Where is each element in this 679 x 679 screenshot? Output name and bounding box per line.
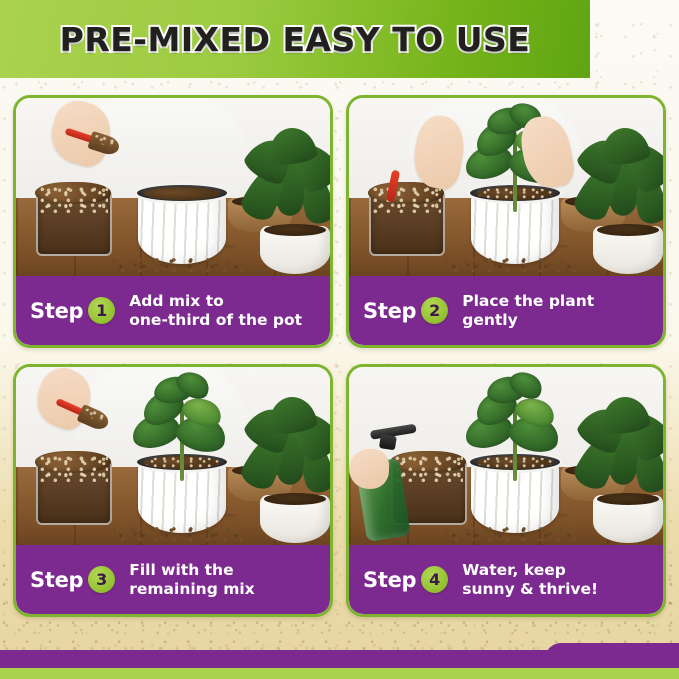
product-infographic: PRE-MIXED EASY TO USE (0, 0, 679, 679)
step-photo-3 (16, 367, 330, 545)
spray-bottle (355, 423, 429, 539)
step-number-badge: 2 (421, 297, 448, 324)
step-label: Step (363, 568, 416, 592)
pot-soil (144, 187, 220, 200)
fiddle-leaf-fig-plant (461, 369, 569, 481)
step-photo-4 (349, 367, 663, 545)
hand (349, 449, 389, 489)
scattered-soil (112, 525, 242, 541)
page-title: PRE-MIXED EASY TO USE (0, 0, 590, 78)
steps-row-top: Step 1 Add mix to one-third of the pot (13, 95, 666, 348)
step-description-line2: remaining mix (129, 580, 254, 598)
step-description: Water, keep sunny & thrive! (462, 561, 598, 598)
step-description-line2: sunny & thrive! (462, 580, 598, 598)
step-photo-1 (16, 98, 330, 276)
step-description: Add mix to one-third of the pot (129, 292, 302, 329)
step-label: Step (363, 299, 416, 323)
soil-mix-container (36, 459, 112, 525)
step-label: Step (30, 299, 83, 323)
scattered-soil (112, 256, 242, 272)
step-card-3[interactable]: Step 3 Fill with the remaining mix (13, 364, 333, 617)
step-card-4[interactable]: Step 4 Water, keep sunny & thrive! (346, 364, 666, 617)
step-description: Fill with the remaining mix (129, 561, 254, 598)
step-description-line1: Water, keep (462, 561, 566, 579)
scattered-soil (445, 525, 575, 541)
step-number-badge: 3 (88, 566, 115, 593)
soil-mix-container (36, 190, 112, 256)
step-caption-3: Step 3 Fill with the remaining mix (16, 545, 330, 614)
step-caption-2: Step 2 Place the plant gently (349, 276, 663, 345)
step-photo-2 (349, 98, 663, 276)
step-description: Place the plant gently (462, 292, 594, 329)
step-caption-4: Step 4 Water, keep sunny & thrive! (349, 545, 663, 614)
step-label: Step (30, 568, 83, 592)
white-pot-right (593, 226, 663, 274)
steps-grid: Step 1 Add mix to one-third of the pot (13, 95, 666, 617)
steps-row-bottom: Step 3 Fill with the remaining mix (13, 364, 666, 617)
spray-trigger-head (369, 419, 420, 452)
step-card-2[interactable]: Step 2 Place the plant gently (346, 95, 666, 348)
step-description-line1: Fill with the (129, 561, 233, 579)
step-card-1[interactable]: Step 1 Add mix to one-third of the pot (13, 95, 333, 348)
step-description-line2: one-third of the pot (129, 311, 302, 329)
white-planter-pot (134, 178, 230, 264)
step-description-line1: Place the plant (462, 292, 594, 310)
scattered-soil (445, 256, 575, 272)
step-description-line2: gently (462, 311, 594, 329)
step-number-badge: 4 (421, 566, 448, 593)
white-pot-right (593, 495, 663, 543)
step-caption-1: Step 1 Add mix to one-third of the pot (16, 276, 330, 345)
soil-mix-container (369, 190, 445, 256)
white-pot-right (260, 495, 330, 543)
fiddle-leaf-fig-plant (128, 369, 236, 481)
bottom-green-strip (0, 668, 679, 679)
white-pot-right (260, 226, 330, 274)
step-description-line1: Add mix to (129, 292, 224, 310)
step-number-badge: 1 (88, 297, 115, 324)
